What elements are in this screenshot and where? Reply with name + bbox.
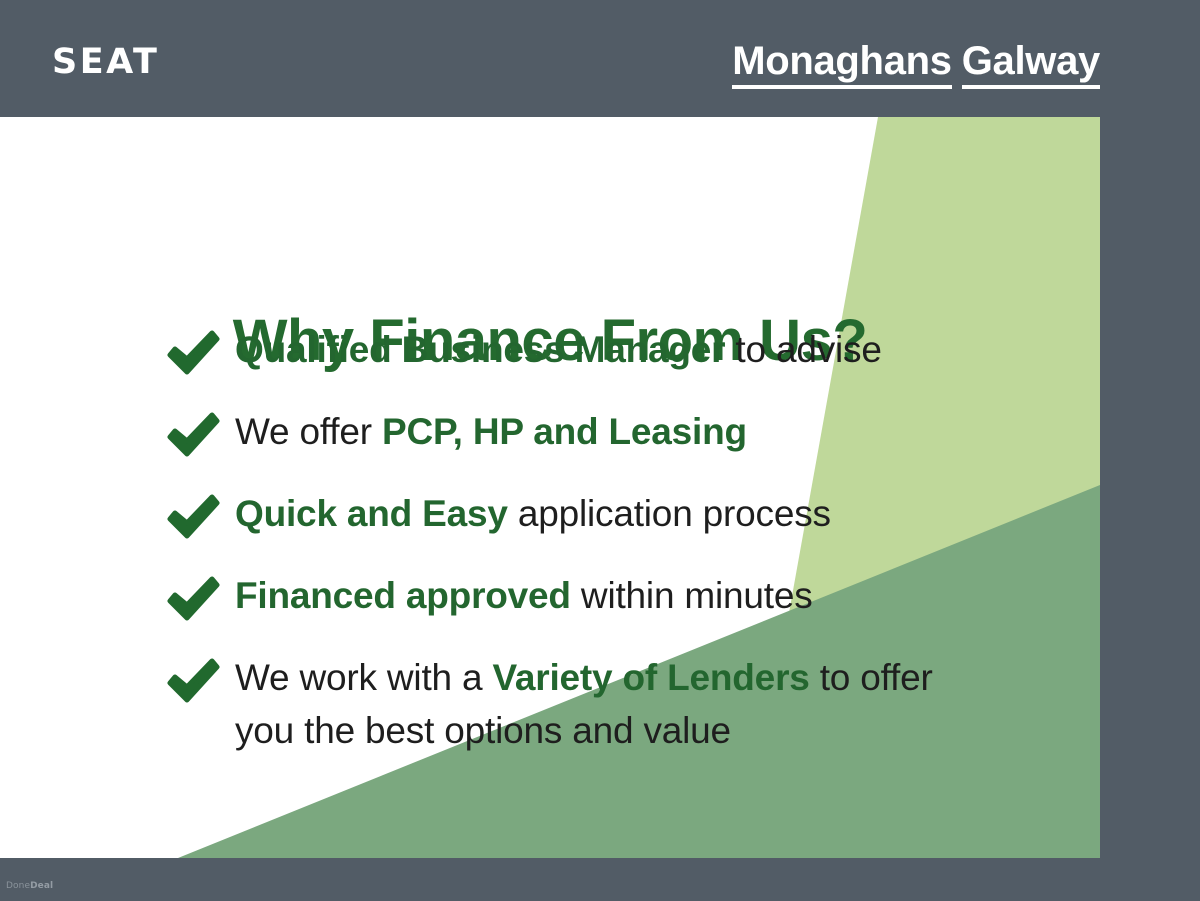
dealer-name-part2: Galway: [962, 41, 1100, 89]
benefit-item: We work with a Variety of Lenders to off…: [165, 652, 995, 757]
brand-logo-seat: SEAT: [52, 45, 159, 80]
check-icon: [165, 574, 221, 626]
slide-canvas: SEAT MonaghansGalway Why Finance From Us…: [0, 0, 1200, 901]
benefit-item: Qualified Business Manager to advise: [165, 324, 995, 380]
check-icon: [165, 410, 221, 462]
benefit-highlight-text: Financed approved: [235, 575, 571, 616]
benefit-plain-text: within minutes: [571, 575, 813, 616]
check-icon: [165, 656, 221, 708]
benefit-item-text: Financed approved within minutes: [235, 570, 995, 623]
watermark-light-text: Done: [6, 881, 30, 891]
benefit-item: Financed approved within minutes: [165, 570, 995, 626]
benefit-item: We offer PCP, HP and Leasing: [165, 406, 995, 462]
benefit-item-text: We work with a Variety of Lenders to off…: [235, 652, 995, 757]
slide-content-panel: Why Finance From Us? Qualified Business …: [0, 117, 1100, 858]
donedeal-watermark: DoneDeal: [6, 882, 53, 891]
slide-header: SEAT MonaghansGalway: [0, 0, 1200, 117]
benefit-item-text: Qualified Business Manager to advise: [235, 324, 995, 377]
benefit-highlight-text: PCP, HP and Leasing: [382, 411, 747, 452]
benefit-highlight-text: Quick and Easy: [235, 493, 508, 534]
check-icon: [165, 492, 221, 544]
dealer-name-part1: Monaghans: [732, 41, 952, 89]
check-icon: [165, 328, 221, 380]
watermark-bold-text: Deal: [30, 881, 53, 891]
benefit-item-text: We offer PCP, HP and Leasing: [235, 406, 995, 459]
benefit-plain-text: to advise: [725, 329, 881, 370]
benefit-item-text: Quick and Easy application process: [235, 488, 995, 541]
benefit-plain-text: application process: [508, 493, 831, 534]
benefit-highlight-text: Qualified Business Manager: [235, 329, 725, 370]
dealer-name: MonaghansGalway: [732, 38, 1100, 89]
benefit-plain-text: We offer: [235, 411, 382, 452]
benefit-plain-text: We work with a: [235, 657, 492, 698]
benefit-highlight-text: Variety of Lenders: [492, 657, 809, 698]
benefits-list: Qualified Business Manager to adviseWe o…: [165, 324, 995, 757]
benefit-item: Quick and Easy application process: [165, 488, 995, 544]
